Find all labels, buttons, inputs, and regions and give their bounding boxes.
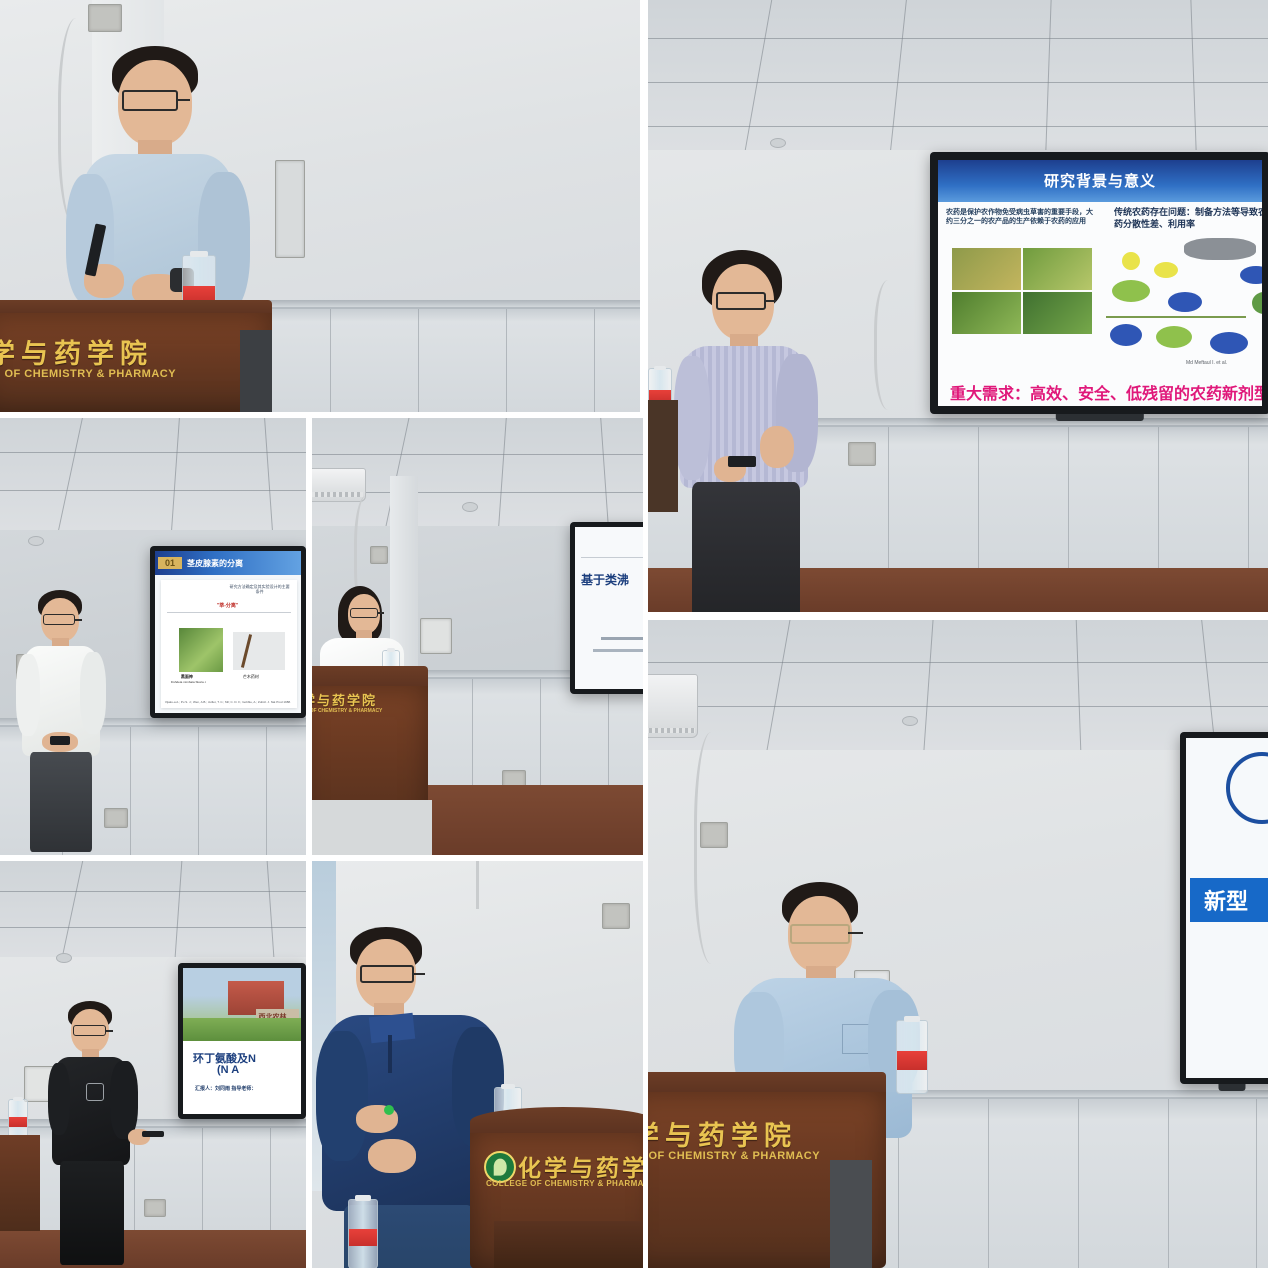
arm-right (80, 652, 106, 734)
ceiling-tiles (0, 418, 306, 530)
slide-citation: Md Meftaul I. et al. (1186, 360, 1227, 366)
power-cable (874, 280, 909, 410)
glasses-icon (43, 614, 75, 625)
slide-section-number: 01 (158, 557, 182, 569)
interactive-display[interactable]: 研究背景与意义 农药是保护农作物免受病虫草害的重要手段，大约三分之一的农产品的生… (930, 152, 1268, 414)
slide-highlight-text: 重大需求：高效、安全、低残留的农药新剂型 (950, 380, 1262, 404)
glasses-icon (73, 1025, 106, 1036)
diagram-node-plant-uptake (1168, 292, 1202, 312)
air-conditioner (312, 468, 366, 502)
diagram-ground-line (1106, 316, 1246, 318)
chair-shadow (830, 1160, 872, 1268)
diagram-node-spray-drift (1154, 262, 1178, 278)
diagram-node-photo-degradation (1112, 280, 1150, 302)
diagram-node-leaching (1210, 332, 1248, 354)
diagram-tree (1252, 292, 1262, 314)
polo-placket (388, 1035, 392, 1073)
arm-left (674, 356, 710, 480)
slide-body: 农药是保护农作物免受病虫草害的重要手段，大约三分之一的农产品的生产依赖于农药的应… (938, 202, 1262, 406)
slide-citation: Vijaku-a A.; Pu S. J.; Wen, A.B.; Juille… (165, 700, 293, 704)
presentation-clicker (50, 736, 70, 745)
arm-left (316, 1031, 368, 1161)
smoke-detector-icon (770, 138, 786, 148)
glasses-icon (790, 924, 850, 944)
smoke-detector-icon (28, 536, 44, 546)
caption-left-latin: Fishdeta mimbata Skorie.t (171, 680, 231, 684)
hand-gesturing (368, 1139, 416, 1173)
slide-title: 新型 (1204, 884, 1248, 916)
presentation-clicker (728, 456, 756, 467)
wall-socket (602, 903, 630, 929)
bottle-cap (501, 1084, 516, 1090)
photo-collage: 学与药学院 GE OF CHEMISTRY & PHARMACY (0, 0, 1268, 1268)
legs-trousers (692, 482, 800, 612)
arm-left (16, 654, 40, 736)
slide-title-bar: 01 茎皮腺素的分离 (155, 551, 301, 575)
bottle-cap (190, 251, 208, 257)
slide-subline (601, 637, 643, 640)
display-stand (1218, 1084, 1245, 1091)
bottle-label (897, 1051, 927, 1070)
ac-vent (648, 728, 695, 733)
slide-rule (581, 557, 643, 558)
wall-socket-left (700, 822, 728, 848)
desk-front (312, 800, 432, 855)
diagram-node-uptake-roots (1110, 324, 1142, 346)
panel-male-presenter-navy-polo[interactable]: 化学与药学院 COLLEGE OF CHEMISTRY & PHARMACY (312, 861, 643, 1268)
podium-top (470, 1107, 643, 1136)
glasses-icon (350, 608, 378, 618)
panel-male-student-presenting-slide[interactable]: 01 茎皮腺素的分离 研究方法确定及其实验设计的主要条件 "萃-分离" 黑面神 … (0, 418, 306, 855)
bottle-cap (13, 1097, 23, 1101)
polo-collar (369, 1013, 415, 1043)
display-stand (1056, 414, 1144, 421)
laser-pointer (142, 1131, 164, 1137)
slide-title-bar: 研究背景与意义 (938, 160, 1262, 202)
slide-title-line-2: (N A (217, 1064, 239, 1076)
bottle-cap (355, 1195, 371, 1201)
podium-chinese-text: 学与药学院 (312, 690, 377, 709)
plant-photo (179, 628, 223, 672)
smoke-detector-icon (902, 716, 918, 726)
slide-title: 基于类沸 (581, 571, 629, 588)
slide-body-note: 研究方法确定及其实验设计的主要条件 (229, 584, 291, 594)
ac-vent (312, 492, 363, 497)
presenter-figure (14, 590, 124, 852)
slide-screen: 01 茎皮腺素的分离 研究方法确定及其实验设计的主要条件 "萃-分离" 黑面神 … (155, 551, 301, 713)
power-cable (694, 732, 737, 964)
slide-banner: 新型 (1190, 878, 1268, 922)
slide-title: 茎皮腺素的分离 (187, 558, 243, 569)
campus-hedge (183, 1018, 301, 1041)
chair-back (240, 330, 272, 412)
slide-subline-2 (593, 649, 643, 652)
bottle-cap (387, 648, 396, 651)
glasses-icon (122, 90, 178, 111)
slide-screen: 研究背景与意义 农药是保护农作物免受病虫草害的重要手段，大约三分之一的农产品的生… (938, 160, 1262, 406)
glasses-icon (360, 965, 414, 983)
smoke-detector-icon (56, 953, 72, 963)
diagram-node-chemical-degradation (1156, 326, 1192, 348)
presenter-figure (50, 1001, 170, 1266)
diagram-node-cold (1240, 266, 1262, 284)
panel-male-presenter-blue-shirt-podium[interactable]: 新型 学与药学院 GE OF CHEMISTRY & (648, 620, 1268, 1268)
water-bottle (896, 1020, 928, 1094)
slide-screen: 基于类沸 (575, 527, 643, 689)
legs-trousers (30, 752, 92, 852)
diagram-node-application (1184, 238, 1256, 260)
podium-english-text: GE OF CHEMISTRY & PHARMACY (648, 1150, 820, 1162)
campus-photo-banner: 西北农林 (183, 968, 301, 1041)
bottle-label (9, 1117, 27, 1127)
bottle-cap (654, 366, 666, 371)
university-circular-logo-icon (1226, 752, 1268, 824)
panel-female-presenter-with-slide[interactable]: 研究背景与意义 农药是保护农作物免受病虫草害的重要手段，大约三分之一的农产品的生… (648, 0, 1268, 612)
side-cabinet (648, 400, 678, 512)
podium-english-text: GE OF CHEMISTRY & PHARMACY (312, 708, 382, 714)
slide-title: 研究背景与意义 (1044, 170, 1156, 191)
podium-partial (0, 1135, 40, 1231)
bottle-cap (904, 1016, 921, 1022)
tshirt-logo-icon (86, 1083, 104, 1101)
podium-english-text: COLLEGE OF CHEMISTRY & PHARMACY (486, 1179, 643, 1188)
clicker-green-led (384, 1105, 394, 1115)
slide-byline: 汇报人：刘同雨 指导老师： (195, 1085, 256, 1092)
arm-left (48, 1063, 70, 1135)
slide-tag: "萃-分离" (217, 602, 238, 609)
glasses-icon (716, 292, 766, 310)
slide-right-text: 传统农药存在问题：制备方法等导致农药分散性差、利用率 (1114, 206, 1262, 230)
air-conditioner (648, 674, 698, 738)
smoke-detector-icon (462, 502, 478, 512)
pesticide-fate-diagram (1106, 236, 1262, 356)
slide-body: 研究方法确定及其实验设计的主要条件 "萃-分离" 黑面神 Fishdeta mi… (161, 580, 297, 708)
podium-chinese-text: 学与药学院 (648, 1114, 797, 1153)
slide-screen: 西北农林 环丁氨酸及N (N A 汇报人：刘同雨 指导老师： (183, 968, 301, 1114)
podium-chinese-text: 学与药学院 (0, 332, 153, 371)
crop-damage-photos (952, 248, 1092, 334)
slide-divider (167, 612, 291, 613)
podium-english-text: GE OF CHEMISTRY & PHARMACY (0, 368, 176, 380)
bottle-label (349, 1229, 377, 1247)
podium-chinese-text: 化学与药学院 (518, 1149, 643, 1183)
legs-trousers (60, 1161, 124, 1265)
wall-display[interactable]: 01 茎皮腺素的分离 研究方法确定及其实验设计的主要条件 "萃-分离" 黑面神 … (150, 546, 306, 718)
panel-male-presenter-at-podium[interactable]: 学与药学院 GE OF CHEMISTRY & PHARMACY (0, 0, 640, 412)
podium-base (494, 1221, 643, 1268)
panel-male-student-black-shirt[interactable]: 西北农林 环丁氨酸及N (N A 汇报人：刘同雨 指导老师： (0, 861, 306, 1268)
diagram-node-sun (1122, 252, 1140, 270)
slide-title-line-1: 环丁氨酸及N (193, 1050, 256, 1066)
ceiling-tiles (648, 0, 1268, 150)
slide-left-text: 农药是保护农作物免受病虫草害的重要手段，大约三分之一的农产品的生产依赖于农药的应… (946, 208, 1098, 227)
slide-screen: 新型 (1186, 738, 1268, 1078)
podium: 学与药学院 GE OF CHEMISTRY & PHARMACY (0, 300, 272, 412)
presenter-figure (674, 250, 854, 580)
water-bottle-bottom (348, 1199, 378, 1268)
ceiling-tiles (648, 620, 1268, 750)
caption-right: 芒木药材 (243, 674, 259, 680)
wall-display[interactable]: 新型 (1180, 732, 1268, 1084)
wall-control-box (420, 618, 452, 654)
ceiling-tiles (0, 861, 306, 957)
wall-display[interactable]: 西北农林 环丁氨酸及N (N A 汇报人：刘同雨 指导老师： (178, 963, 306, 1119)
arm-right (110, 1061, 138, 1139)
wall-display[interactable]: 基于类沸 (570, 522, 643, 694)
panel-female-student-at-podium[interactable]: 基于类沸 学与药学院 GE OF CHEMISTRY & PHARMACY (312, 418, 643, 855)
wall-plate (370, 546, 388, 564)
hand-gesturing (760, 426, 794, 468)
